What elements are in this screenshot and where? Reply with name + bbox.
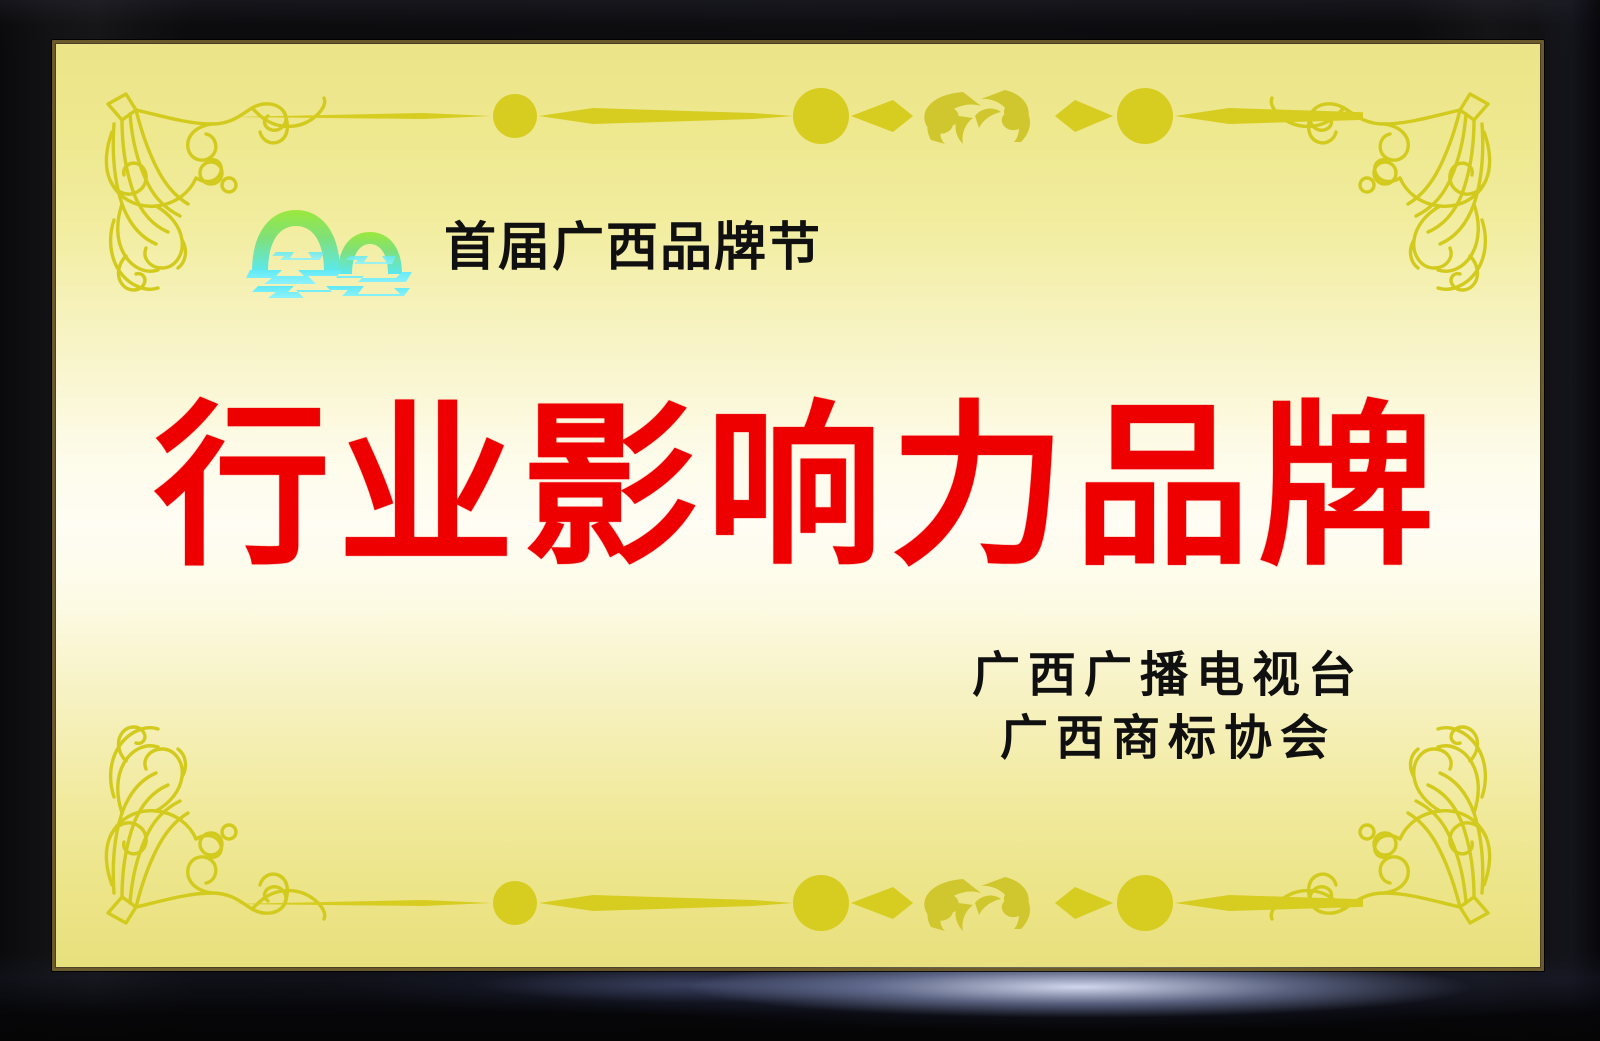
certificate-header: 首届广西品牌节 — [246, 194, 822, 302]
frame-right-shadow — [1536, 0, 1600, 1041]
award-plaque: 首届广西品牌节 行业影响力品牌 广西广播电视台 广西商标协会 — [0, 0, 1600, 1041]
corner-flourish-icon — [92, 707, 342, 937]
corner-flourish-icon — [1254, 80, 1504, 310]
ornamental-divider-icon — [233, 88, 1363, 144]
award-title: 行业影响力品牌 — [56, 396, 1540, 581]
ornamental-divider-icon — [233, 875, 1363, 931]
issuer-organization: 广西商标协会 — [972, 707, 1364, 770]
certificate-face: 首届广西品牌节 行业影响力品牌 广西广播电视台 广西商标协会 — [56, 44, 1540, 967]
guangxi-brand-festival-logo-icon — [246, 194, 414, 302]
issuer-block: 广西广播电视台 广西商标协会 — [972, 644, 1364, 771]
event-name: 首届广西品牌节 — [444, 222, 822, 274]
issuer-organization: 广西广播电视台 — [972, 644, 1364, 707]
